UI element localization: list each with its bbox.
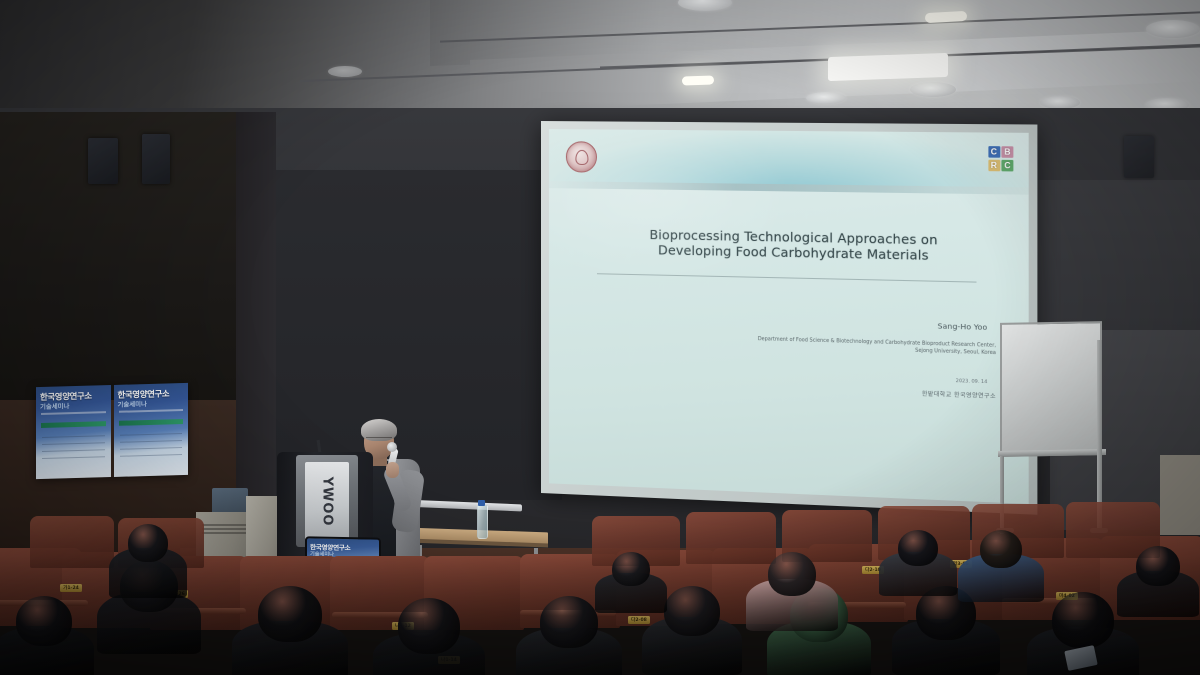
logo-tile-b: B — [1001, 146, 1013, 158]
poster-text-line — [42, 442, 105, 445]
university-emblem-icon — [566, 141, 597, 172]
poster-subheading: 기술세미나 — [118, 399, 147, 409]
ceiling-light-tube — [682, 75, 714, 85]
poster-accent-bar — [41, 421, 106, 428]
slide-title: Bioprocessing Technological Approaches o… — [589, 226, 1003, 265]
seat-number-plate: 다2-08 — [628, 616, 650, 624]
ceiling-downlight — [1146, 20, 1200, 38]
lectern-brand-label: YWOO — [305, 462, 349, 540]
ceiling-light-panel — [828, 53, 948, 81]
attendee-standing-left-head — [128, 524, 168, 562]
auditorium-seat — [686, 512, 776, 564]
poster-subheading: 기술세미나 — [40, 401, 69, 411]
attendee-edge-left-head — [16, 596, 72, 646]
slide-affiliation: Department of Food Science & Biotechnolo… — [593, 331, 996, 357]
cabinet-vent — [202, 532, 252, 534]
poster-text-line — [42, 435, 105, 438]
ceiling-downlight — [806, 92, 846, 104]
mobile-whiteboard — [1000, 321, 1102, 457]
cabinet-vent — [202, 528, 252, 530]
slide-author: Sang-Ho Yoo — [938, 321, 988, 332]
slide-rule — [597, 273, 977, 282]
wall-speaker — [142, 134, 170, 184]
poster-text-line — [120, 433, 183, 436]
wall-poster-group: 한국영양연구소 기술세미나 한국영양연구소 기술세미나 — [36, 383, 188, 479]
poster-rule — [119, 409, 184, 413]
auditorium-seat — [30, 516, 114, 568]
logo-tile-c2: C — [1001, 159, 1013, 171]
attendee-back-row-a-head — [612, 552, 650, 586]
slide-header-band — [549, 129, 1029, 187]
poster-text-line — [120, 440, 183, 443]
attendee-front-left-2-head — [258, 586, 322, 642]
attendee-glasses-head — [898, 530, 938, 566]
whiteboard-frame-post — [1097, 340, 1102, 528]
logo-tile-r: R — [988, 159, 1000, 171]
water-bottle-cap — [478, 500, 485, 506]
speaker-hand — [386, 462, 399, 478]
wall-poster: 한국영양연구소 기술세미나 — [114, 383, 189, 477]
wall-panel-left-upper — [0, 112, 262, 412]
wall-poster: 한국영양연구소 기술세미나 — [36, 385, 111, 479]
poster-rule — [41, 411, 106, 415]
poster-text-line — [42, 456, 105, 459]
projection-screen: C B R C Bioprocessing Technological Appr… — [541, 121, 1037, 515]
attendee-blue-shirt-head — [980, 530, 1022, 568]
lecture-hall-photo: C B R C Bioprocessing Technological Appr… — [0, 0, 1200, 675]
seat-number-plate: 가1-24 — [60, 584, 82, 592]
lectern-brand-text: YWOO — [320, 476, 335, 526]
attendee-center-right-head — [664, 586, 720, 636]
logo-tile-c1: C — [988, 146, 1000, 158]
ceiling-downlight — [910, 82, 956, 97]
wall-speaker — [1124, 136, 1154, 178]
wall-speaker — [88, 138, 118, 184]
water-bottle — [477, 505, 488, 539]
wall-panel-right-light — [1160, 455, 1200, 535]
poster-accent-bar — [119, 419, 184, 426]
microphone-head-icon — [387, 442, 397, 452]
cbrc-logo-icon: C B R C — [988, 146, 1014, 171]
presentation-slide: C B R C Bioprocessing Technological Appr… — [549, 129, 1029, 504]
slide-date: 2023. 09. 14 — [956, 379, 988, 385]
attendee-center-head — [540, 596, 598, 648]
attendee-back-row-b-head — [1136, 546, 1180, 586]
slide-host: 한밭대학교 한국영양연구소 — [922, 389, 996, 400]
attendee-pink-jacket-head — [768, 552, 816, 596]
poster-text-line — [120, 454, 183, 457]
cabinet-vent — [202, 524, 252, 526]
attendee-far-right-head — [1052, 592, 1114, 648]
wall-panel-center — [262, 170, 562, 500]
poster-text-line — [42, 449, 105, 452]
attendee-center-left-head — [398, 598, 460, 654]
poster-text-line — [120, 447, 183, 450]
ceiling-downlight — [328, 66, 362, 77]
